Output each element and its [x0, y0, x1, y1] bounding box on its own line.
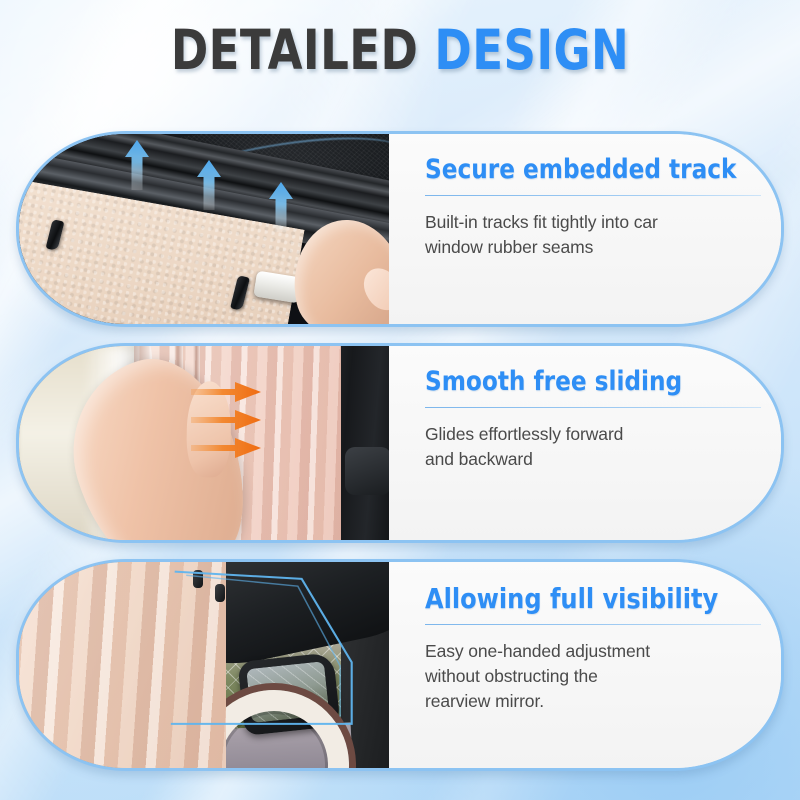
- feature-description: Built-in tracks fit tightly into car win…: [425, 210, 784, 260]
- arrow-up-icon: [125, 140, 149, 190]
- arrow-up-icon: [269, 182, 293, 232]
- arrow-right-icon: [191, 382, 261, 402]
- photo-fingernail: [356, 261, 389, 316]
- heading-divider: [425, 195, 761, 196]
- curtain-sliding-photo: [19, 346, 389, 540]
- photo-curtain-clip-1: [193, 570, 203, 588]
- feature-description: Easy one-handed adjustment without obstr…: [425, 639, 766, 714]
- feature-heading: Allowing full visibility: [425, 582, 718, 615]
- feature-card-smooth-free-sliding: Smooth free sliding Glides effortlessly …: [16, 343, 784, 543]
- arrow-up-icon: [197, 160, 221, 210]
- feature-heading: Smooth free sliding: [425, 366, 714, 398]
- heading-divider: [425, 407, 761, 408]
- photo-beige-curtain: [19, 562, 226, 768]
- feature-card-secure-embedded-track: Secure embedded track Built-in tracks fi…: [16, 131, 784, 327]
- arrow-right-icon: [191, 410, 261, 430]
- rearview-visibility-photo: [19, 562, 389, 768]
- page-title-blue-part: DESIGN: [434, 18, 629, 82]
- arrow-right-icon: [191, 438, 261, 458]
- feature-heading: Secure embedded track: [425, 154, 736, 186]
- photo-curtain-clip-2: [215, 584, 225, 602]
- car-window-track-photo: [19, 134, 389, 324]
- photo-door-knob: [345, 447, 389, 495]
- feature-card-allowing-full-visibility: Allowing full visibility Easy one-handed…: [16, 559, 784, 771]
- feature-card-body: Secure embedded track Built-in tracks fi…: [389, 134, 784, 324]
- page-title-dark-part: DETAILED: [171, 18, 418, 82]
- page-title: DETAILED DESIGN: [72, 22, 728, 80]
- heading-divider: [425, 624, 761, 625]
- feature-card-body: Smooth free sliding Glides effortlessly …: [389, 346, 784, 540]
- page-header: DETAILED DESIGN: [0, 22, 800, 80]
- feature-card-body: Allowing full visibility Easy one-handed…: [389, 562, 784, 768]
- feature-description: Glides effortlessly forward and backward: [425, 422, 761, 472]
